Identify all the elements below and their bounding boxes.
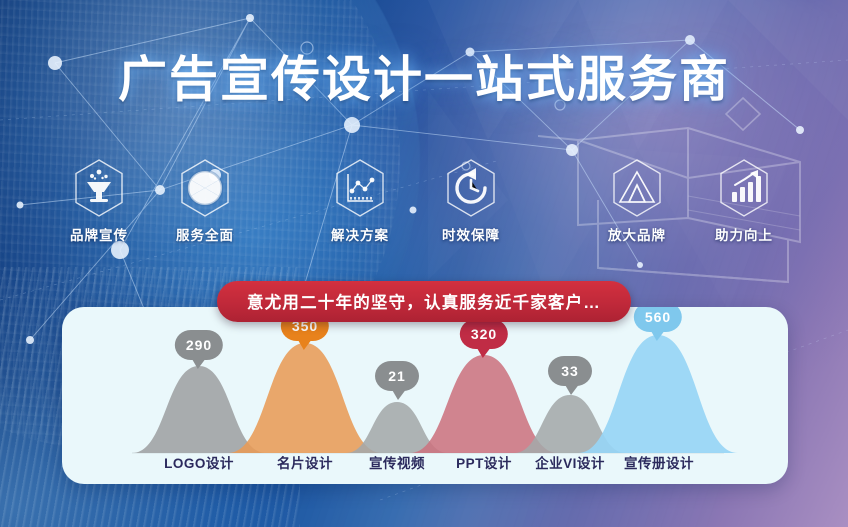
value-bubble-text: 21 [388,368,406,384]
feature-label: 解决方案 [312,224,408,244]
chart-category-labels: LOGO设计 名片设计 宣传视频 PPT设计 企业VI设计 宣传册设计 [62,452,788,474]
aperture-icon [157,157,253,219]
value-bubble-shipin: 21 [375,361,419,391]
slogan-ribbon: 意尤用二十年的坚守，认真服务近千家客户… [217,281,631,322]
scatter-chart-icon [312,157,408,219]
page-title: 广告宣传设计一站式服务商 [0,56,848,105]
clock-rewind-icon [423,157,519,219]
value-bubble-text: 290 [186,337,212,353]
feature-item-timeliness[interactable]: 时效保障 [423,157,519,244]
feature-item-full-service[interactable]: 服务全面 [157,157,253,244]
value-bubble-text: 320 [471,326,497,342]
value-bubble-oval: 33 [548,356,592,386]
bar-growth-arrow-icon [696,157,792,219]
category-label-xuanchuan: 宣传册设计 [595,452,723,472]
feature-label: 服务全面 [157,224,253,244]
feature-item-boost-growth[interactable]: 助力向上 [696,157,792,244]
feature-item-solutions[interactable]: 解决方案 [312,157,408,244]
trophy-sparkle-icon [51,157,147,219]
feature-list: 品牌宣传 服务全面 [0,157,848,252]
triangle-pyramid-icon [589,157,685,219]
feature-item-amplify-brand[interactable]: 放大品牌 [589,157,685,244]
poster-canvas: 广告宣传设计一站式服务商 [0,0,848,527]
value-bubble-text: 33 [561,363,579,379]
feature-label: 品牌宣传 [51,224,147,244]
value-bubble-xuanchuan: 560 [634,307,682,332]
value-bubble-vi: 33 [548,356,592,386]
value-bubble-ppt: 320 [460,319,508,349]
feature-label: 时效保障 [423,224,519,244]
value-bubble-oval: 320 [460,319,508,349]
value-bubble-text: 560 [645,309,671,325]
feature-item-brand-promotion[interactable]: 品牌宣传 [51,157,147,244]
chart-card: 290 350 21 320 33 560 [62,307,788,484]
feature-label: 放大品牌 [589,224,685,244]
category-label-logo: LOGO设计 [139,452,259,472]
feature-label: 助力向上 [696,224,792,244]
value-bubble-oval: 290 [175,330,223,360]
value-bubble-oval: 21 [375,361,419,391]
value-bubble-logo: 290 [175,330,223,360]
